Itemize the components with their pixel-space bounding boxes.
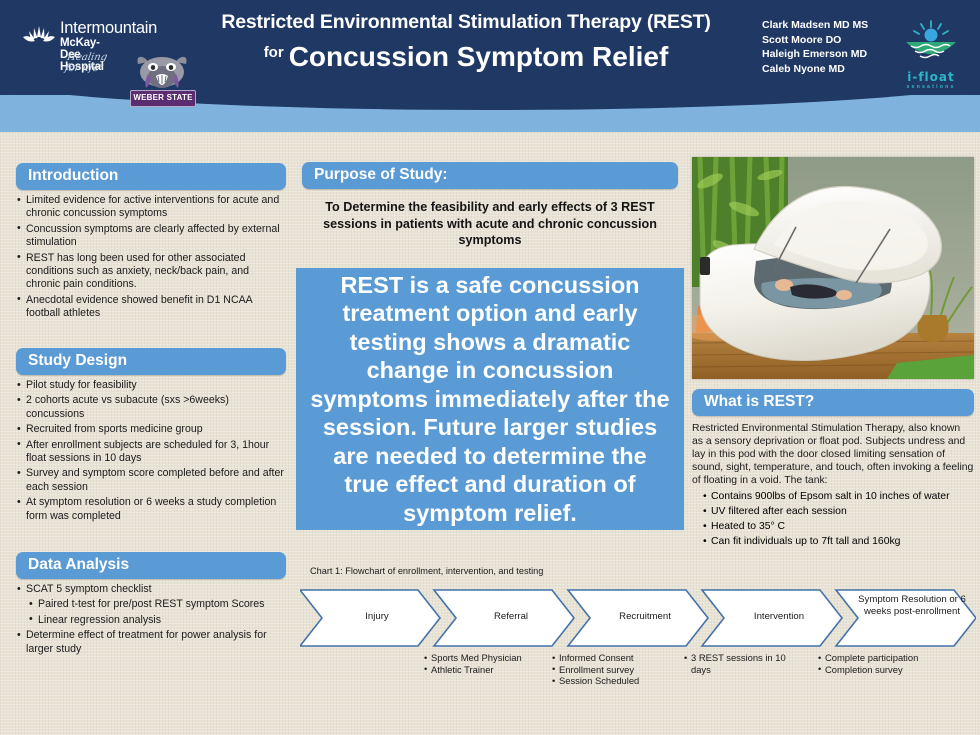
list-item: Anecdotal evidence showed benefit in D1 …: [16, 294, 286, 321]
intermountain-name: Intermountain: [60, 19, 157, 38]
sun-over-water-icon: [896, 20, 966, 64]
weber-state-band: WEBER STATE: [130, 90, 196, 107]
data-analysis-heading: Data Analysis: [16, 552, 286, 579]
flow-step-notes: Complete participation Completion survey: [818, 652, 938, 675]
poster-title-for: for: [264, 44, 284, 61]
list-item: Enrollment survey: [552, 664, 674, 676]
author-name: Caleb Nyone MD: [762, 62, 868, 77]
ifloat-subtitle: sensations: [896, 84, 966, 90]
float-pod-photo: [692, 157, 974, 379]
flow-step-label: Symptom Resolution or 6 weeks post-enrol…: [856, 594, 968, 617]
section-data-analysis: Data Analysis SCAT 5 symptom checklist P…: [16, 552, 286, 658]
ifloat-name: i-float: [896, 70, 966, 84]
author-name: Scott Moore DO: [762, 33, 868, 48]
list-item: Concussion symptoms are clearly affected…: [16, 223, 286, 250]
author-name: Clark Madsen MD MS: [762, 18, 868, 33]
list-item: Completion survey: [818, 664, 938, 676]
purpose-heading: Purpose of Study:: [302, 162, 678, 189]
poster-title-line2-wrap: forConcussion Symptom Relief: [186, 36, 746, 74]
list-item: Survey and symptom score completed befor…: [16, 467, 286, 494]
data-analysis-bullets: SCAT 5 symptom checklist Paired t-test f…: [16, 583, 286, 656]
section-what-is-rest: What is REST? Restricted Environmental S…: [692, 389, 974, 550]
purpose-body: To Determine the feasibility and early e…: [302, 199, 678, 249]
list-item: Athletic Trainer: [424, 664, 544, 676]
list-item: Session Scheduled: [552, 675, 674, 687]
poster-title: Restricted Environmental Stimulation The…: [186, 10, 746, 74]
section-introduction: Introduction Limited evidence for active…: [16, 163, 286, 323]
author-name: Haleigh Emerson MD: [762, 47, 868, 62]
list-item: Recruited from sports medicine group: [16, 423, 286, 436]
section-purpose: Purpose of Study: To Determine the feasi…: [302, 162, 678, 249]
flow-step-label: Injury: [322, 611, 432, 623]
flow-step-label: Referral: [456, 611, 566, 623]
list-item: REST has long been used for other associ…: [16, 252, 286, 292]
flow-step-label: Intervention: [724, 611, 834, 623]
intermountain-tagline: Healing for life°: [64, 52, 109, 74]
study-design-heading: Study Design: [16, 348, 286, 375]
flow-step-notes: Informed Consent Enrollment survey Sessi…: [552, 652, 674, 687]
list-item: After enrollment subjects are scheduled …: [16, 439, 286, 466]
list-item: Contains 900lbs of Epsom salt in 10 inch…: [692, 490, 974, 503]
poster-canvas: Intermountain McKay-Dee Hospital Healing…: [0, 0, 980, 735]
list-item: Sports Med Physician: [424, 652, 544, 664]
what-is-rest-heading: What is REST?: [692, 389, 974, 416]
flow-step-notes: 3 REST sessions in 10 days: [684, 652, 800, 675]
introduction-heading: Introduction: [16, 163, 286, 190]
flow-step-notes: Sports Med Physician Athletic Trainer: [424, 652, 544, 675]
list-item: Determine effect of treatment for power …: [16, 629, 286, 656]
poster-header: Intermountain McKay-Dee Hospital Healing…: [0, 0, 980, 132]
list-item: Linear regression analysis: [16, 614, 286, 627]
introduction-bullets: Limited evidence for active intervention…: [16, 194, 286, 321]
list-item: Heated to 35° C: [692, 520, 974, 533]
list-item: Limited evidence for active intervention…: [16, 194, 286, 221]
float-pod-illustration-icon: [692, 157, 974, 379]
intermountain-mark-icon: [22, 25, 56, 45]
list-item: SCAT 5 symptom checklist: [16, 583, 286, 596]
conclusion-callout: REST is a safe concussion treatment opti…: [296, 268, 684, 530]
study-design-bullets: Pilot study for feasibility 2 cohorts ac…: [16, 379, 286, 523]
list-item: 2 cohorts acute vs subacute (sxs >6weeks…: [16, 394, 286, 421]
poster-title-line2: Concussion Symptom Relief: [289, 41, 669, 72]
list-item: Pilot study for feasibility: [16, 379, 286, 392]
section-study-design: Study Design Pilot study for feasibility…: [16, 348, 286, 525]
flow-step-label: Recruitment: [590, 611, 700, 623]
list-item: Complete participation: [818, 652, 938, 664]
list-item: At symptom resolution or 6 weeks a study…: [16, 496, 286, 523]
list-item: Can fit individuals up to 7ft tall and 1…: [692, 535, 974, 548]
list-item: Paired t-test for pre/post REST symptom …: [16, 598, 286, 611]
list-item: UV filtered after each session: [692, 505, 974, 518]
chart-caption: Chart 1: Flowchart of enrollment, interv…: [310, 566, 543, 576]
conclusion-text: REST is a safe concussion treatment opti…: [310, 271, 670, 528]
list-item: Informed Consent: [552, 652, 674, 664]
ifloat-logo: i-float sensations: [896, 20, 966, 92]
author-list: Clark Madsen MD MS Scott Moore DO Haleig…: [762, 18, 868, 76]
enrollment-flowchart: Injury Referral Recruitment Intervention…: [300, 588, 976, 648]
what-is-rest-bullets: Contains 900lbs of Epsom salt in 10 inch…: [692, 490, 974, 548]
poster-title-line1: Restricted Environmental Stimulation The…: [186, 10, 746, 34]
what-is-rest-paragraph: Restricted Environmental Stimulation The…: [692, 422, 974, 487]
list-item: 3 REST sessions in 10 days: [684, 652, 800, 675]
